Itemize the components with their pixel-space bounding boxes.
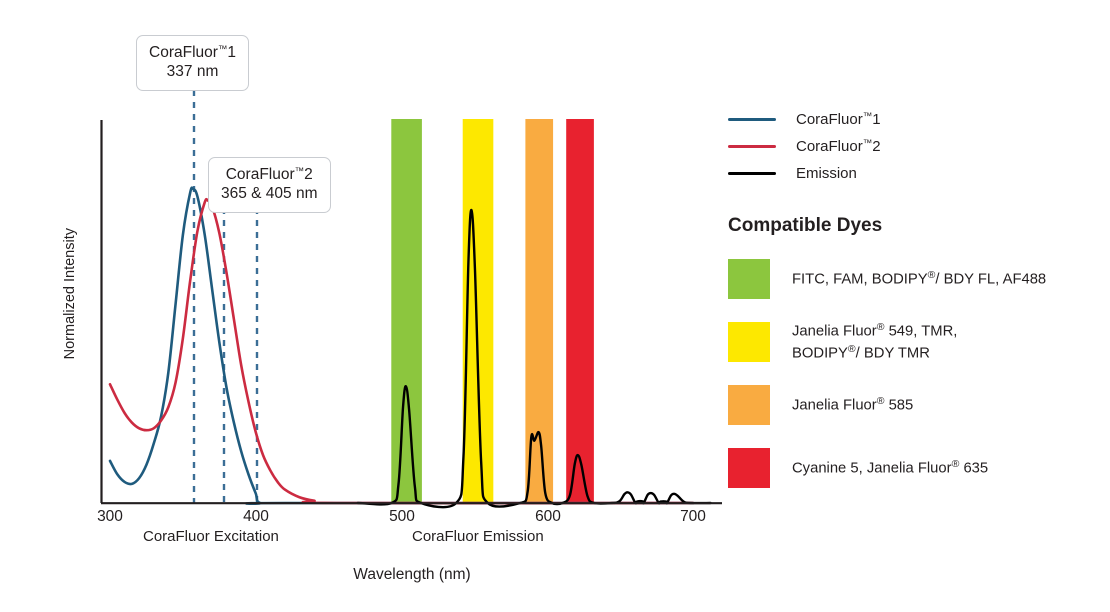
dye-label: Cyanine 5, Janelia Fluor® 635 xyxy=(792,457,988,479)
chart-plot-area: CoraFluor™1 337 nm CoraFluor™2 365 & 405… xyxy=(0,0,740,612)
compatible-dyes-list: FITC, FAM, BODIPY®/ BDY FL, AF488Janelia… xyxy=(728,253,1110,494)
xtick-label-600: 600 xyxy=(518,508,578,526)
legend-label: CoraFluor™2 xyxy=(796,138,881,155)
callout-corafluor2-value: 365 & 405 nm xyxy=(221,184,318,203)
dye-label: FITC, FAM, BODIPY®/ BDY FL, AF488 xyxy=(792,268,1046,290)
dye-label: Janelia Fluor® 585 xyxy=(792,394,913,416)
dye-item-1: Janelia Fluor® 549, TMR,BODIPY®/ BDY TMR xyxy=(728,316,1110,368)
dye-item-0: FITC, FAM, BODIPY®/ BDY FL, AF488 xyxy=(728,253,1110,305)
emission-filter-bands xyxy=(391,119,594,503)
chart-figure: CoraFluor™1 337 nm CoraFluor™2 365 & 405… xyxy=(0,0,1110,612)
legend-label: Emission xyxy=(796,165,857,182)
y-axis-title: Normalized Intensity xyxy=(62,228,78,359)
dye-item-2: Janelia Fluor® 585 xyxy=(728,379,1110,431)
legend-line-swatch xyxy=(728,145,776,148)
legend-item-1: CoraFluor™2 xyxy=(728,133,1110,160)
callout-corafluor1-value: 337 nm xyxy=(149,62,236,81)
compatible-dyes-heading: Compatible Dyes xyxy=(728,215,1110,237)
green-band xyxy=(391,119,422,503)
dye-color-swatch xyxy=(728,385,770,425)
legend-panel: CoraFluor™1CoraFluor™2Emission Compatibl… xyxy=(728,106,1110,505)
excitation-marker-lines xyxy=(194,90,257,503)
dye-color-swatch xyxy=(728,259,770,299)
xtick-label-500: 500 xyxy=(372,508,432,526)
callout-corafluor2: CoraFluor™2 365 & 405 nm xyxy=(208,157,331,213)
series-legend: CoraFluor™1CoraFluor™2Emission xyxy=(728,106,1110,187)
xtick-label-300: 300 xyxy=(80,508,140,526)
legend-label: CoraFluor™1 xyxy=(796,111,881,128)
dye-label: Janelia Fluor® 549, TMR,BODIPY®/ BDY TMR xyxy=(792,320,957,363)
callout-corafluor1-title: CoraFluor™1 xyxy=(149,43,236,62)
x-axis-title: Wavelength (nm) xyxy=(282,566,542,584)
xtick-label-700: 700 xyxy=(663,508,723,526)
legend-line-swatch xyxy=(728,118,776,121)
callout-corafluor2-title: CoraFluor™2 xyxy=(221,165,318,184)
red-band xyxy=(566,119,594,503)
dye-color-swatch xyxy=(728,322,770,362)
callout-corafluor1: CoraFluor™1 337 nm xyxy=(136,35,249,91)
xtick-label-400: 400 xyxy=(226,508,286,526)
legend-item-2: Emission xyxy=(728,160,1110,187)
legend-item-0: CoraFluor™1 xyxy=(728,106,1110,133)
legend-line-swatch xyxy=(728,172,776,175)
section-label-emission: CoraFluor Emission xyxy=(412,528,544,545)
dye-color-swatch xyxy=(728,448,770,488)
dye-item-3: Cyanine 5, Janelia Fluor® 635 xyxy=(728,442,1110,494)
section-label-excitation: CoraFluor Excitation xyxy=(143,528,279,545)
